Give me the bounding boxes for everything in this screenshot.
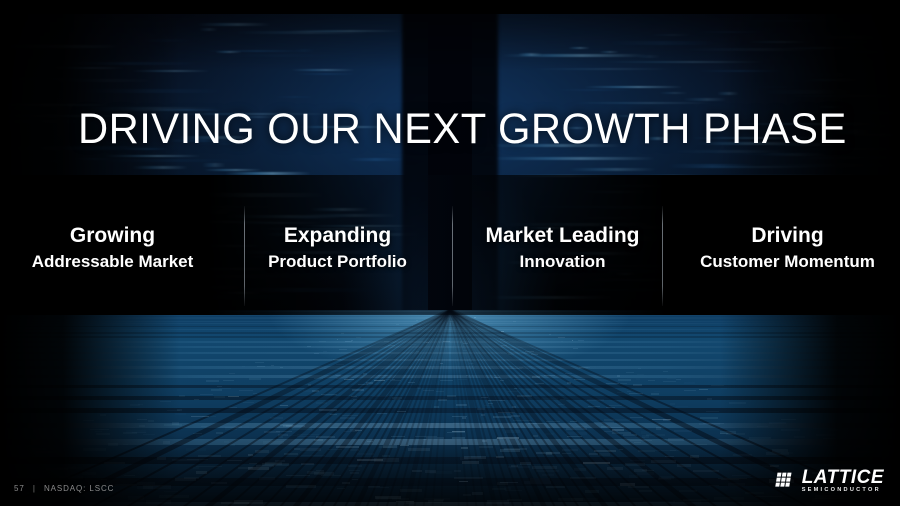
page-title: DRIVING OUR NEXT GROWTH PHASE xyxy=(78,108,815,151)
logo-text: LATTICE SEMICONDUCTOR xyxy=(802,468,884,494)
slide: DRIVING OUR NEXT GROWTH PHASE Growing Ad… xyxy=(0,0,900,506)
column-divider-2 xyxy=(452,206,453,306)
pillar-subtitle: Product Portfolio xyxy=(225,252,450,272)
pillar-heading: Market Leading xyxy=(450,224,675,248)
column-divider-1 xyxy=(244,206,245,306)
pillar-growing: Growing Addressable Market xyxy=(0,206,225,310)
page-number: 57 xyxy=(14,484,25,493)
pillar-heading: Growing xyxy=(0,224,225,248)
footer-note: 57 | NASDAQ: LSCC xyxy=(14,484,114,493)
pillar-subtitle: Addressable Market xyxy=(0,252,225,272)
slide-content: DRIVING OUR NEXT GROWTH PHASE Growing Ad… xyxy=(0,0,900,506)
pillar-expanding: Expanding Product Portfolio xyxy=(225,206,450,310)
logo-tagline: SEMICONDUCTOR xyxy=(802,488,881,494)
footer-separator: | xyxy=(33,484,36,493)
pillar-subtitle: Innovation xyxy=(450,252,675,272)
pillar-heading: Driving xyxy=(675,224,900,248)
pillar-subtitle: Customer Momentum xyxy=(675,252,900,272)
ticker-symbol: NASDAQ: LSCC xyxy=(44,484,114,493)
logo-wordmark: LATTICE xyxy=(802,468,884,487)
lattice-logo: LATTICE SEMICONDUCTOR xyxy=(775,468,884,494)
pillar-driving: Driving Customer Momentum xyxy=(675,206,900,310)
pillar-market-leading: Market Leading Innovation xyxy=(450,206,675,310)
lattice-grid-icon xyxy=(775,472,797,489)
pillar-heading: Expanding xyxy=(225,224,450,248)
column-divider-3 xyxy=(662,206,663,306)
pillars-row: Growing Addressable Market Expanding Pro… xyxy=(0,206,900,310)
